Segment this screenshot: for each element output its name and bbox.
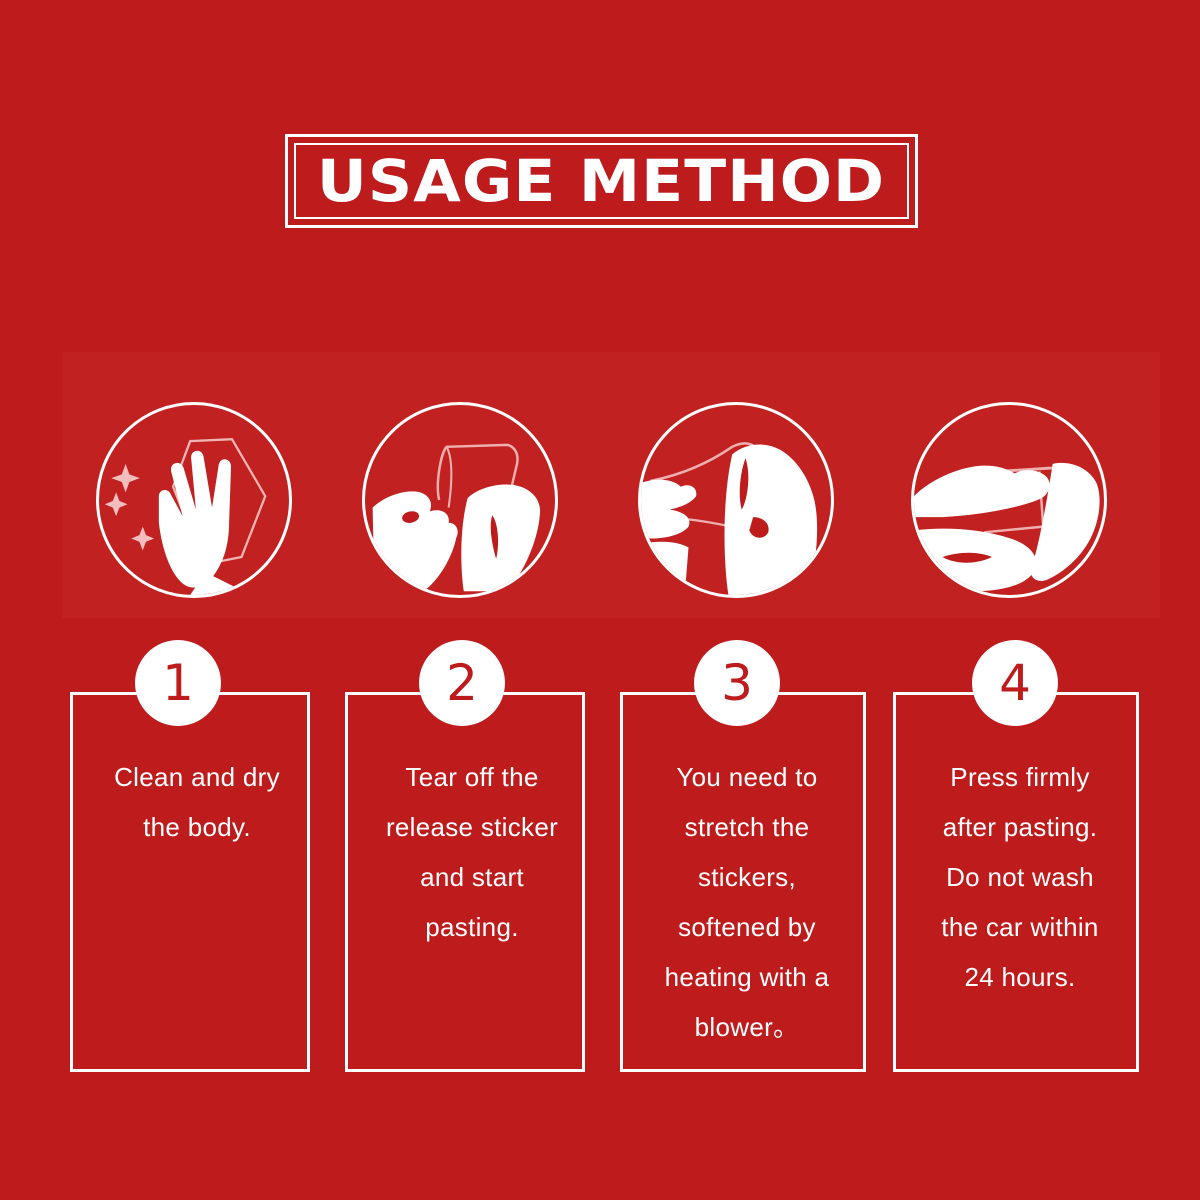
step-column-2: 2 Tear off the release sticker and start… [345,640,595,1080]
step-column-3: 3 You need to stretch the stickers, soft… [620,640,870,1080]
steps-row: 1 Clean and dry the body. 2 Tear off the… [0,640,1200,1080]
step-number-badge-2: 2 [419,640,505,726]
step-text-2: Tear off the release sticker and start p… [355,752,589,952]
step-number-badge-3: 3 [694,640,780,726]
hands-stretching-film-icon [638,402,834,598]
title-frame: USAGE METHOD [285,134,918,228]
step-column-4: 4 Press firmly after pasting. Do not was… [893,640,1143,1080]
step-text-1: Clean and dry the body. [80,752,314,852]
title-frame-inner: USAGE METHOD [294,143,909,219]
step-number-badge-4: 4 [972,640,1058,726]
hands-peeling-release-liner-icon [362,402,558,598]
step-text-4: Press firmly after pasting. Do not wash … [903,752,1137,1002]
icons-row [0,402,1200,598]
page-title: USAGE METHOD [317,152,885,210]
hands-pressing-squeegee-icon [911,402,1107,598]
hand-wiping-cloth-icon [96,402,292,598]
step-box-1 [70,692,310,1072]
step-text-3: You need to stretch the stickers, soften… [630,752,864,1052]
step-column-1: 1 Clean and dry the body. [70,640,320,1080]
step-number-badge-1: 1 [135,640,221,726]
